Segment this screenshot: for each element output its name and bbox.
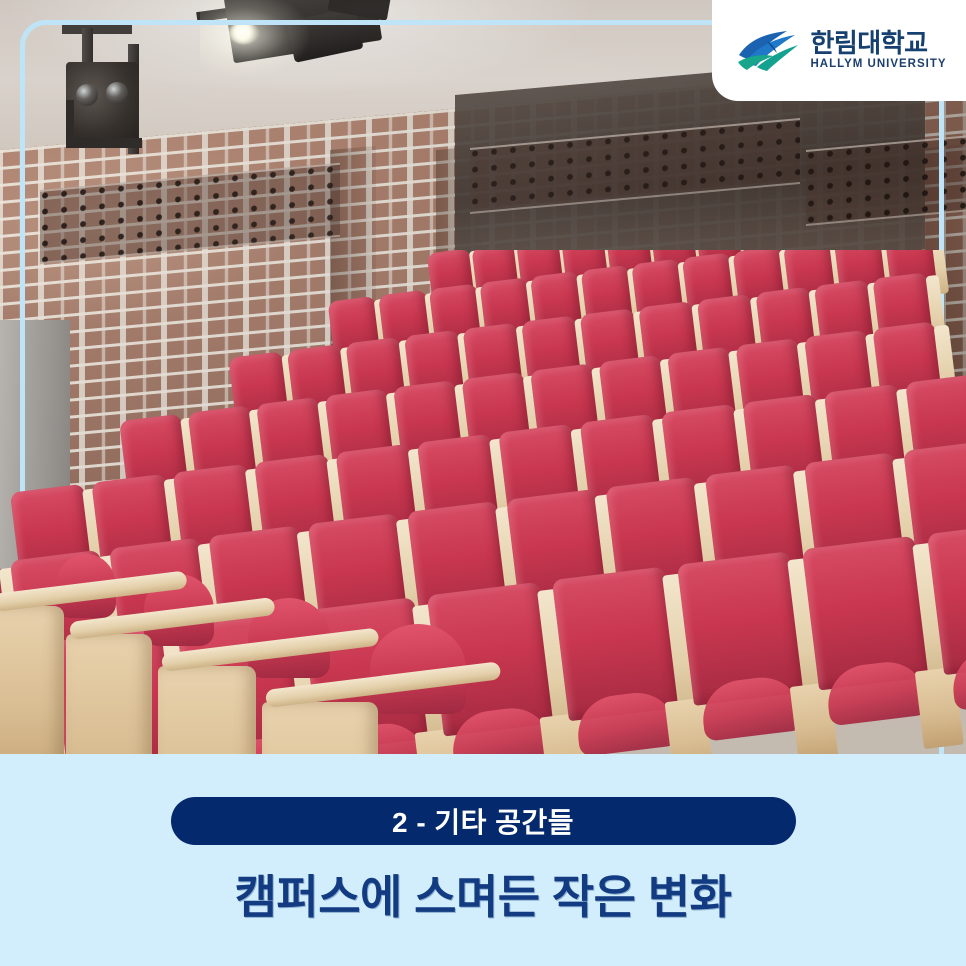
stage-lamp-icon (229, 22, 259, 44)
lecture-hall-photo: /* seat rows generated below by template… (0, 0, 966, 754)
seat-end-panel (66, 634, 152, 754)
seat-end-panel (158, 666, 256, 754)
projector-lens-icon (106, 82, 128, 104)
university-logo-panel: 한림대학교 HALLYM UNIVERSITY (712, 0, 966, 101)
projector-bracket (66, 138, 142, 148)
footer-caption-area: 2 - 기타 공간들 캠퍼스에 스며든 작은 변화 (0, 754, 966, 966)
seat-end-panel (0, 606, 64, 754)
auditorium-seating: /* seat rows generated below by template… (0, 250, 966, 754)
projector-lens-icon (76, 84, 98, 106)
perforated-brick-panel (806, 135, 966, 226)
card-slide: /* seat rows generated below by template… (0, 0, 966, 966)
section-badge: 2 - 기타 공간들 (171, 797, 796, 845)
logo-name-ko: 한림대학교 (810, 30, 927, 57)
hallym-wave-logo-icon (737, 29, 801, 73)
slide-headline: 캠퍼스에 스며든 작은 변화 (235, 861, 732, 927)
ceiling-projector (66, 62, 138, 142)
projector-ceiling-plate (62, 24, 132, 34)
logo-name-en: HALLYM UNIVERSITY (810, 58, 946, 72)
seat-end-panel (262, 702, 378, 754)
projector-bracket (66, 100, 74, 148)
